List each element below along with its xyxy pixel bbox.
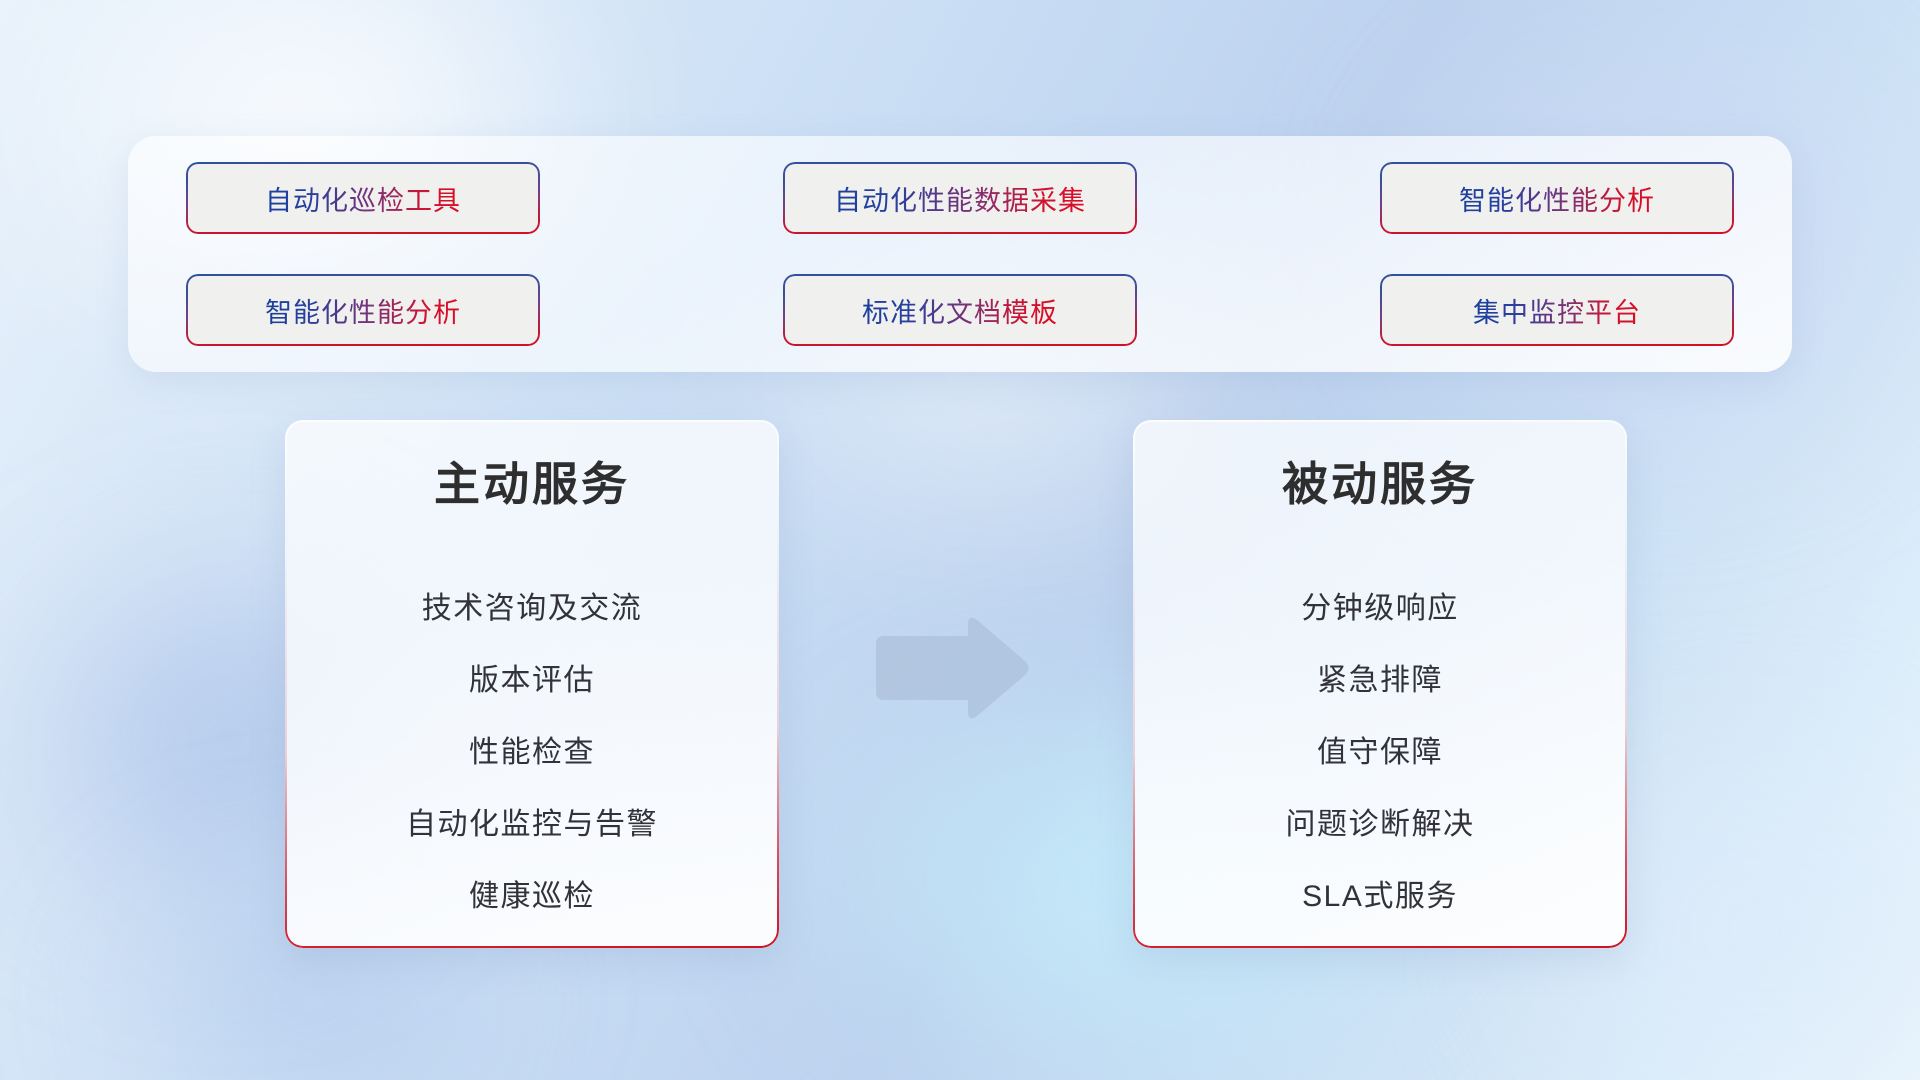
tools-row-2: 智能化性能分析 标准化文档模板 集中监控平台 bbox=[186, 274, 1734, 346]
service-card-proactive: 主动服务 技术咨询及交流 版本评估 性能检查 自动化监控与告警 健康巡检 bbox=[285, 420, 779, 948]
tool-chip-label: 标准化文档模板 bbox=[862, 291, 1058, 330]
card-item-list: 技术咨询及交流 版本评估 性能检查 自动化监控与告警 健康巡检 bbox=[311, 573, 753, 933]
tools-panel: 自动化巡检工具 自动化性能数据采集 智能化性能分析 智能化性能分析 标准化文档模… bbox=[128, 136, 1792, 372]
list-item[interactable]: 分钟级响应 bbox=[1301, 573, 1459, 645]
list-item[interactable]: 紧急排障 bbox=[1317, 645, 1443, 717]
tool-chip-automated-inspection[interactable]: 自动化巡检工具 bbox=[186, 162, 540, 234]
tool-chip-label: 智能化性能分析 bbox=[265, 291, 461, 330]
tool-chip-centralized-monitoring-platform[interactable]: 集中监控平台 bbox=[1380, 274, 1734, 346]
list-item[interactable]: 健康巡检 bbox=[469, 861, 595, 933]
list-item[interactable]: 版本评估 bbox=[469, 645, 595, 717]
list-item[interactable]: 值守保障 bbox=[1317, 717, 1443, 789]
list-item[interactable]: 自动化监控与告警 bbox=[406, 789, 658, 861]
arrow-right-icon bbox=[872, 614, 1032, 722]
tool-chip-intelligent-performance-analysis-2[interactable]: 智能化性能分析 bbox=[186, 274, 540, 346]
list-item[interactable]: SLA式服务 bbox=[1302, 861, 1458, 933]
card-item-list: 分钟级响应 紧急排障 值守保障 问题诊断解决 SLA式服务 bbox=[1159, 573, 1601, 933]
tool-chip-standardized-doc-template[interactable]: 标准化文档模板 bbox=[783, 274, 1137, 346]
tool-chip-label: 自动化性能数据采集 bbox=[834, 179, 1086, 218]
tool-chip-automated-performance-collection[interactable]: 自动化性能数据采集 bbox=[783, 162, 1137, 234]
list-item[interactable]: 问题诊断解决 bbox=[1286, 789, 1475, 861]
card-title: 被动服务 bbox=[1282, 458, 1478, 511]
tool-chip-label: 集中监控平台 bbox=[1473, 291, 1641, 330]
tool-chip-label: 自动化巡检工具 bbox=[265, 179, 461, 218]
tool-chip-label: 智能化性能分析 bbox=[1459, 179, 1655, 218]
list-item[interactable]: 性能检查 bbox=[469, 717, 595, 789]
list-item[interactable]: 技术咨询及交流 bbox=[422, 573, 643, 645]
tools-row-1: 自动化巡检工具 自动化性能数据采集 智能化性能分析 bbox=[186, 162, 1734, 234]
card-title: 主动服务 bbox=[434, 458, 630, 511]
tool-chip-intelligent-performance-analysis-1[interactable]: 智能化性能分析 bbox=[1380, 162, 1734, 234]
service-card-reactive: 被动服务 分钟级响应 紧急排障 值守保障 问题诊断解决 SLA式服务 bbox=[1133, 420, 1627, 948]
